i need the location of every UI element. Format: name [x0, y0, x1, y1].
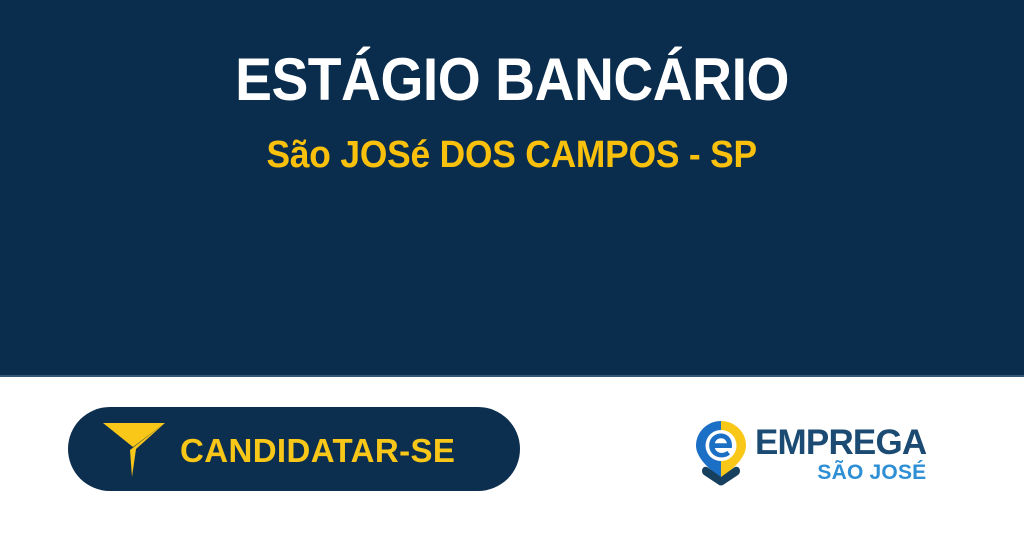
- apply-button-label: CANDIDATAR-SE: [180, 434, 455, 467]
- paper-plane-icon: [102, 417, 166, 481]
- brand-name: EMPREGA: [755, 425, 926, 460]
- brand-subname: SÃO JOSÉ: [817, 462, 926, 483]
- hero-section: ESTÁGIO BANCÁRIO São JOSé DOS CAMPOS - S…: [0, 0, 1024, 377]
- brand-wordmark: EMPREGA SÃO JOSÉ: [755, 425, 926, 483]
- brand-logo[interactable]: EMPREGA SÃO JOSÉ: [693, 419, 925, 487]
- page-title: ESTÁGIO BANCÁRIO: [235, 48, 789, 111]
- apply-button[interactable]: CANDIDATAR-SE: [68, 407, 520, 491]
- job-ad-banner: ESTÁGIO BANCÁRIO São JOSé DOS CAMPOS - S…: [0, 0, 1024, 538]
- footer-section: CANDIDATAR-SE EMPREGA SÃO JOSÉ: [0, 377, 1024, 538]
- map-pin-e-icon: [693, 420, 749, 486]
- job-location-subtitle: São JOSé DOS CAMPOS - SP: [267, 135, 757, 177]
